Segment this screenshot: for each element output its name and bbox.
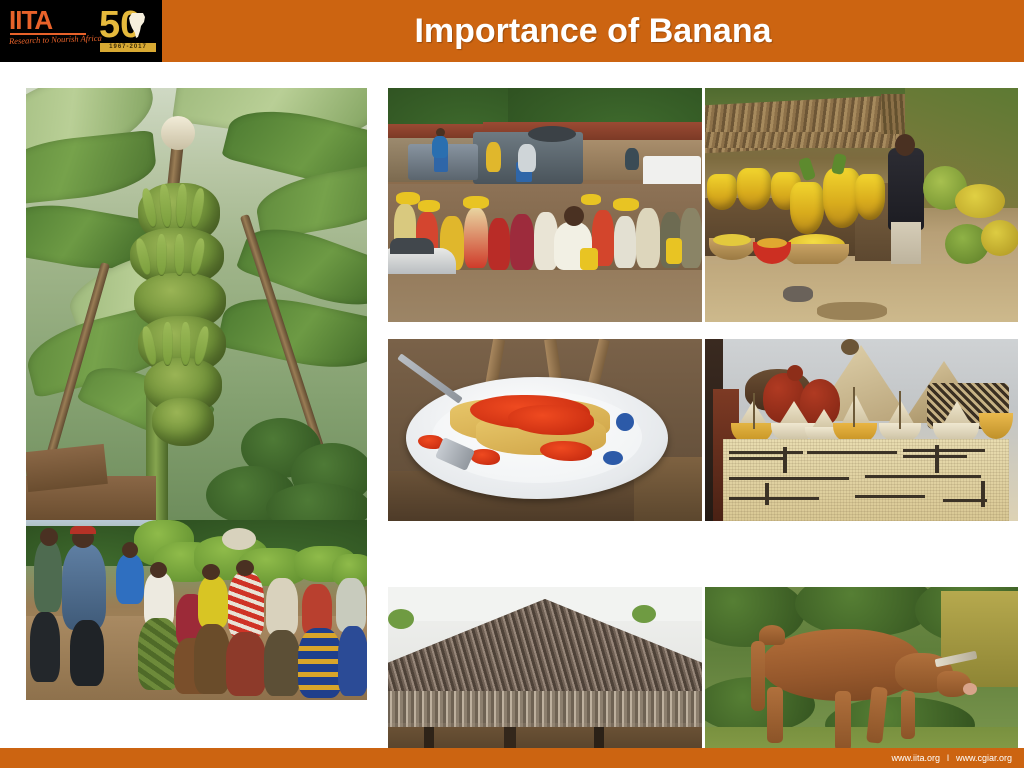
slide-footer-bar bbox=[0, 748, 1024, 768]
footer-link-iita[interactable]: www.iita.org bbox=[891, 753, 940, 763]
photo-market-truck-crowd[interactable] bbox=[388, 88, 702, 322]
iita-logo-tagline: Research to Nourish Africa bbox=[9, 33, 102, 46]
photo-market-carriers[interactable] bbox=[26, 520, 367, 700]
footer-separator: l bbox=[947, 753, 949, 763]
presentation-slide: IITA Research to Nourish Africa 50 1967-… bbox=[0, 0, 1024, 768]
photo-banana-plantation[interactable] bbox=[26, 88, 367, 520]
iita-logo-wordmark: IITA bbox=[9, 7, 52, 33]
photo-grazing-cow[interactable] bbox=[705, 587, 1018, 767]
photo-collage bbox=[0, 62, 1024, 748]
footer-links: www.iita.org l www.cgiar.org bbox=[891, 748, 1012, 768]
footer-link-cgiar[interactable]: www.cgiar.org bbox=[956, 753, 1012, 763]
photo-thatched-hut[interactable] bbox=[388, 587, 702, 767]
photo-banana-stall[interactable] bbox=[705, 88, 1018, 322]
photo-plantain-dish[interactable] bbox=[388, 339, 702, 521]
africa-map-icon bbox=[126, 11, 150, 41]
anniversary-dates: 1967-2017 bbox=[100, 43, 156, 52]
anniversary-logo: 50 1967-2017 bbox=[99, 6, 157, 56]
iita-logo[interactable]: IITA Research to Nourish Africa 50 1967-… bbox=[0, 0, 162, 62]
slide-title: Importance of Banana bbox=[162, 0, 1024, 62]
photo-woven-crafts[interactable] bbox=[705, 339, 1018, 521]
